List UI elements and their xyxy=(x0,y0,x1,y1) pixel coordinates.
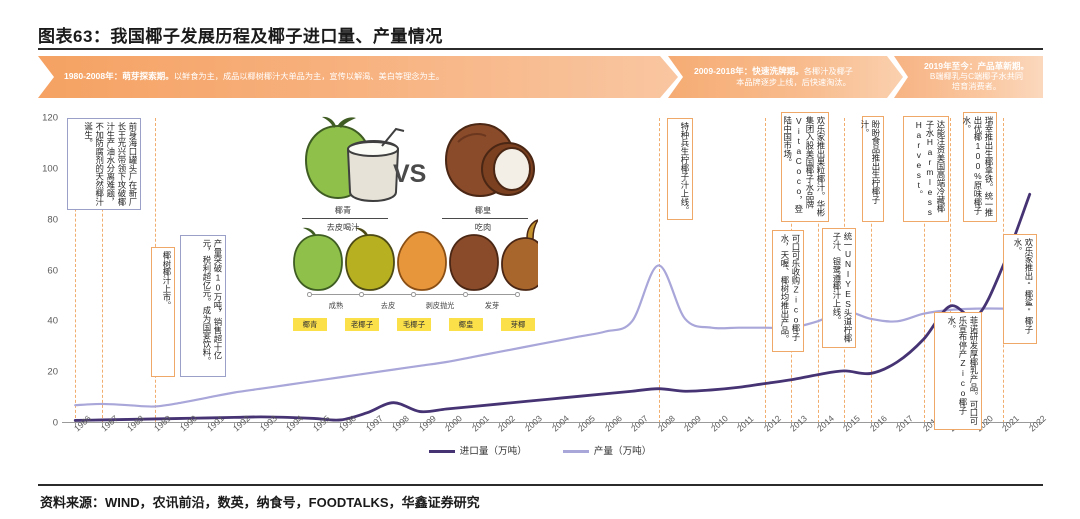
x-axis-tick-mark xyxy=(553,423,554,426)
y-axis-tick-label: 120 xyxy=(28,113,58,124)
x-axis-tick-mark xyxy=(261,423,262,426)
x-axis-tick-mark xyxy=(579,423,580,426)
x-axis-tick-mark xyxy=(340,423,341,426)
left-coconut-use: 去皮喝汁 xyxy=(318,221,368,233)
event-annotation-box: 产量突破10万吨，销售超十亿元，税利超亿元。成为国宴饮料。 xyxy=(180,235,226,377)
x-axis-tick-mark xyxy=(738,423,739,426)
left-coconut-name: 椰青 xyxy=(318,204,368,216)
source-footer: 资料来源：WIND，农讯前沿，数英，纳食号，FOODTALKS，华鑫证券研究 xyxy=(40,492,480,511)
event-annotation-box: 盼盼食品推出生柠椰子汁。 xyxy=(862,116,884,222)
chart-legend: 进口量（万吨）产量（万吨） xyxy=(0,443,1080,457)
x-axis-tick-mark xyxy=(128,423,129,426)
phase1-body: 以鲜食为主，成品以椰树椰汁大单品为主，宣传以解渴、美白等理念为主。 xyxy=(174,72,444,81)
x-axis-tick-mark xyxy=(314,423,315,426)
event-annotation-box: 椰树椰汁上市。 xyxy=(151,247,175,377)
stage-transition-label: 去皮 xyxy=(368,301,408,311)
x-axis-tick-mark xyxy=(181,423,182,426)
left-rule xyxy=(302,218,388,219)
stage-node xyxy=(307,292,312,297)
y-axis-tick-label: 20 xyxy=(28,367,58,378)
event-annotation-box: 欢乐家推出“椰鲨”椰子水。 xyxy=(1003,234,1037,344)
stage-node xyxy=(411,292,416,297)
stage-transition-label: 发芽 xyxy=(472,301,512,311)
event-annotation-box: 欢乐家推出果粒椰汁。华彬集团入股美国椰子水品牌VitaCoco，登陆中国市场。 xyxy=(781,112,829,222)
x-axis-tick-mark xyxy=(473,423,474,426)
stage-node xyxy=(463,292,468,297)
right-coconut-name: 椰皇 xyxy=(458,204,508,216)
phase2-head: 2009-2018年：快速洗牌期。 xyxy=(694,66,804,76)
x-axis-tick-mark xyxy=(1030,423,1031,426)
phase-chevron-1: 1980-2008年：萌芽探索期。以鲜食为主，成品以椰树椰汁大单品为主，宣传以解… xyxy=(38,56,678,98)
stage-chip: 芽椰 xyxy=(501,318,535,331)
event-annotation-box: 特种兵生柠椰子汁上线。 xyxy=(667,118,693,220)
x-axis-tick-mark xyxy=(924,423,925,426)
legend-label: 进口量（万吨） xyxy=(460,446,527,457)
coconut-infographic: VS 椰青 去皮喝汁 椰皇 吃肉 成熟去皮剥皮抛光发芽 椰青老椰子毛椰子椰皇芽椰 xyxy=(286,112,538,342)
x-axis-tick-mark xyxy=(526,423,527,426)
x-axis-tick-mark xyxy=(606,423,607,426)
x-axis-tick-mark xyxy=(844,423,845,426)
x-axis-tick-mark xyxy=(287,423,288,426)
title-divider xyxy=(38,48,1043,50)
x-axis-tick-mark xyxy=(393,423,394,426)
x-axis-tick-mark xyxy=(155,423,156,426)
x-axis-tick-mark xyxy=(75,423,76,426)
event-annotation-box: 统一UNIYES头道柠椰子汁、银鹭遵椰汁上线。 xyxy=(822,228,856,348)
y-axis-tick-label: 80 xyxy=(28,214,58,225)
legend-swatch xyxy=(563,450,589,453)
x-axis-tick-mark xyxy=(102,423,103,426)
phase-banner: 1980-2008年：萌芽探索期。以鲜食为主，成品以椰树椰汁大单品为主，宣传以解… xyxy=(38,56,1043,98)
y-axis-tick-label: 0 xyxy=(28,418,58,429)
x-axis-tick-mark xyxy=(446,423,447,426)
stage-chip: 椰青 xyxy=(293,318,327,331)
vs-label: VS xyxy=(393,160,426,189)
x-axis-tick-mark xyxy=(818,423,819,426)
x-axis-tick-mark xyxy=(685,423,686,426)
event-annotation-box: 菲诺研发厚椰乳产品。可口可乐宣布停产Zico椰子水。 xyxy=(934,312,982,430)
right-coconut-use: 吃肉 xyxy=(458,221,508,233)
y-axis-tick-label: 60 xyxy=(28,265,58,276)
page-title: 图表63：我国椰子发展历程及椰子进口量、产量情况 xyxy=(38,22,443,47)
footer-divider xyxy=(38,484,1043,486)
event-annotation-box: 瑞幸推出生椰拿铁。统一推出优椰100%原味椰子水。 xyxy=(963,112,997,222)
legend-item: 进口量（万吨） xyxy=(429,443,527,457)
phase3-head: 2019年至今：产品革新期。 xyxy=(920,61,1033,72)
event-annotation-box: 达能注资美国高端冷藏椰子水Harmless Harvest。 xyxy=(903,116,949,222)
event-annotation-box: 可口可乐收购Zico椰子水，天喔、椰树均推出产品。 xyxy=(772,230,804,352)
legend-item: 产量（万吨） xyxy=(563,443,652,457)
x-axis-tick-mark xyxy=(712,423,713,426)
x-axis-tick-mark xyxy=(367,423,368,426)
phase2-body2: 本品牌逐步上线，后快速淘汰。 xyxy=(694,78,893,88)
x-axis-tick-mark xyxy=(420,423,421,426)
x-axis-tick-mark xyxy=(659,423,660,426)
x-axis-tick-mark xyxy=(208,423,209,426)
stage-transition-label: 剥皮抛光 xyxy=(420,301,460,311)
phase3-body2: 培育消费者。 xyxy=(920,82,1033,92)
x-axis-tick-mark xyxy=(897,423,898,426)
legend-swatch xyxy=(429,450,455,453)
stage-chip: 椰皇 xyxy=(449,318,483,331)
x-axis-tick-mark xyxy=(632,423,633,426)
y-axis-tick-label: 40 xyxy=(28,316,58,327)
stage-node xyxy=(359,292,364,297)
x-axis-tick-mark xyxy=(499,423,500,426)
phase-chevron-3: 2019年至今：产品革新期。 B端椰乳与C端椰子水共同 培育消费者。 xyxy=(894,56,1043,98)
stage-chip: 毛椰子 xyxy=(397,318,431,331)
phase1-head: 1980-2008年：萌芽探索期。 xyxy=(64,71,174,81)
phase2-body1: 各椰汁及椰子 xyxy=(804,67,853,76)
y-axis-tick-label: 100 xyxy=(28,163,58,174)
event-annotation-box: 前身海口罐头厂在新厂长王光兴带领下攻破椰汁生产油水分离难题，不加防腐剂的天然椰汁… xyxy=(67,118,141,210)
right-rule xyxy=(442,218,528,219)
phase3-body1: B端椰乳与C端椰子水共同 xyxy=(920,72,1033,82)
stage-chip: 老椰子 xyxy=(345,318,379,331)
stage-transition-label: 成熟 xyxy=(316,301,356,311)
x-axis-tick-mark xyxy=(871,423,872,426)
x-axis-tick-mark xyxy=(1003,423,1004,426)
phase-chevron-2: 2009-2018年：快速洗牌期。各椰汁及椰子 本品牌逐步上线，后快速淘汰。 xyxy=(668,56,903,98)
stage-node xyxy=(515,292,520,297)
legend-label: 产量（万吨） xyxy=(594,446,652,457)
x-axis-tick-mark xyxy=(234,423,235,426)
figure-root: 图表63：我国椰子发展历程及椰子进口量、产量情况 1980-2008年：萌芽探索… xyxy=(0,0,1080,519)
x-axis-tick-mark xyxy=(765,423,766,426)
x-axis-tick-mark xyxy=(791,423,792,426)
